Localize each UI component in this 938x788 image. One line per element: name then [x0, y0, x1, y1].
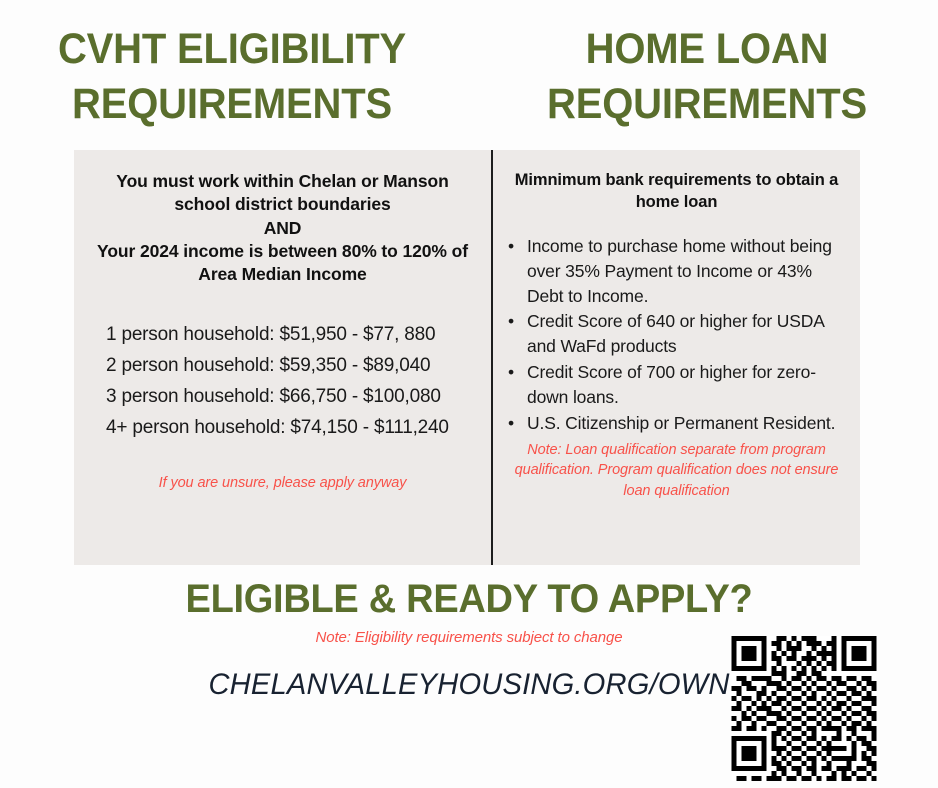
bullet-icon: •	[508, 234, 514, 259]
eligibility-note: If you are unsure, please apply anyway	[88, 473, 477, 494]
lead-line-3: Your 2024 income is between 80% to 120% …	[97, 241, 468, 284]
cta-heading: ELIGIBLE & READY TO APPLY?	[23, 578, 914, 620]
list-item: 1 person household: $51,950 - $77, 880	[106, 320, 477, 351]
home-loan-column: Mimnimum bank requirements to obtain a h…	[491, 150, 860, 565]
list-item: • U.S. Citizenship or Permanent Resident…	[505, 411, 850, 436]
eligibility-column: You must work within Chelan or Manson sc…	[74, 150, 491, 565]
eligibility-lead-text: You must work within Chelan or Manson sc…	[88, 170, 477, 286]
household-range: $51,950 - $77, 880	[279, 324, 435, 345]
qr-code-icon[interactable]	[722, 636, 886, 781]
household-label: 2 person household:	[106, 355, 274, 376]
bullet-icon: •	[508, 309, 514, 334]
qr-code-container[interactable]	[722, 636, 886, 781]
lead-line-1: You must work within Chelan or Manson sc…	[116, 171, 448, 214]
list-item: • Credit Score of 640 or higher for USDA…	[505, 309, 850, 359]
requirement-text: U.S. Citizenship or Permanent Resident.	[527, 413, 835, 433]
household-range: $66,750 - $100,080	[279, 386, 440, 407]
lead-line-2: AND	[88, 217, 477, 240]
requirement-text: Income to purchase home without being ov…	[527, 236, 832, 306]
bank-requirements-subheading: Mimnimum bank requirements to obtain a h…	[503, 170, 850, 214]
poster-root: CVHT ELIGIBILITY REQUIREMENTS HOME LOAN …	[0, 0, 938, 788]
list-item: • Income to purchase home without being …	[505, 234, 850, 309]
loan-qualification-note: Note: Loan qualification separate from p…	[503, 440, 850, 502]
cvht-eligibility-heading: CVHT ELIGIBILITY REQUIREMENTS	[55, 22, 408, 131]
household-income-list: 1 person household: $51,950 - $77, 880 2…	[88, 320, 477, 443]
household-label: 1 person household:	[106, 324, 274, 345]
bullet-icon: •	[508, 360, 514, 385]
list-item: 3 person household: $66,750 - $100,080	[106, 382, 477, 413]
requirements-panel: You must work within Chelan or Manson sc…	[74, 150, 860, 565]
home-loan-heading: HOME LOAN REQUIREMENTS	[530, 22, 883, 131]
bullet-icon: •	[508, 411, 514, 436]
list-item: • Credit Score of 700 or higher for zero…	[505, 360, 850, 410]
requirement-text: Credit Score of 700 or higher for zero-d…	[527, 362, 816, 407]
requirement-text: Credit Score of 640 or higher for USDA a…	[527, 311, 824, 356]
right-heading-column: HOME LOAN REQUIREMENTS	[469, 22, 938, 150]
household-label: 3 person household:	[106, 386, 274, 407]
headings-row: CVHT ELIGIBILITY REQUIREMENTS HOME LOAN …	[0, 22, 938, 150]
household-range: $59,350 - $89,040	[279, 355, 430, 376]
household-range: $74,150 - $111,240	[290, 417, 448, 438]
list-item: 2 person household: $59,350 - $89,040	[106, 351, 477, 382]
left-heading-column: CVHT ELIGIBILITY REQUIREMENTS	[0, 22, 469, 150]
loan-requirements-list: • Income to purchase home without being …	[503, 234, 850, 436]
household-label: 4+ person household:	[106, 417, 285, 438]
list-item: 4+ person household: $74,150 - $111,240	[106, 413, 477, 444]
